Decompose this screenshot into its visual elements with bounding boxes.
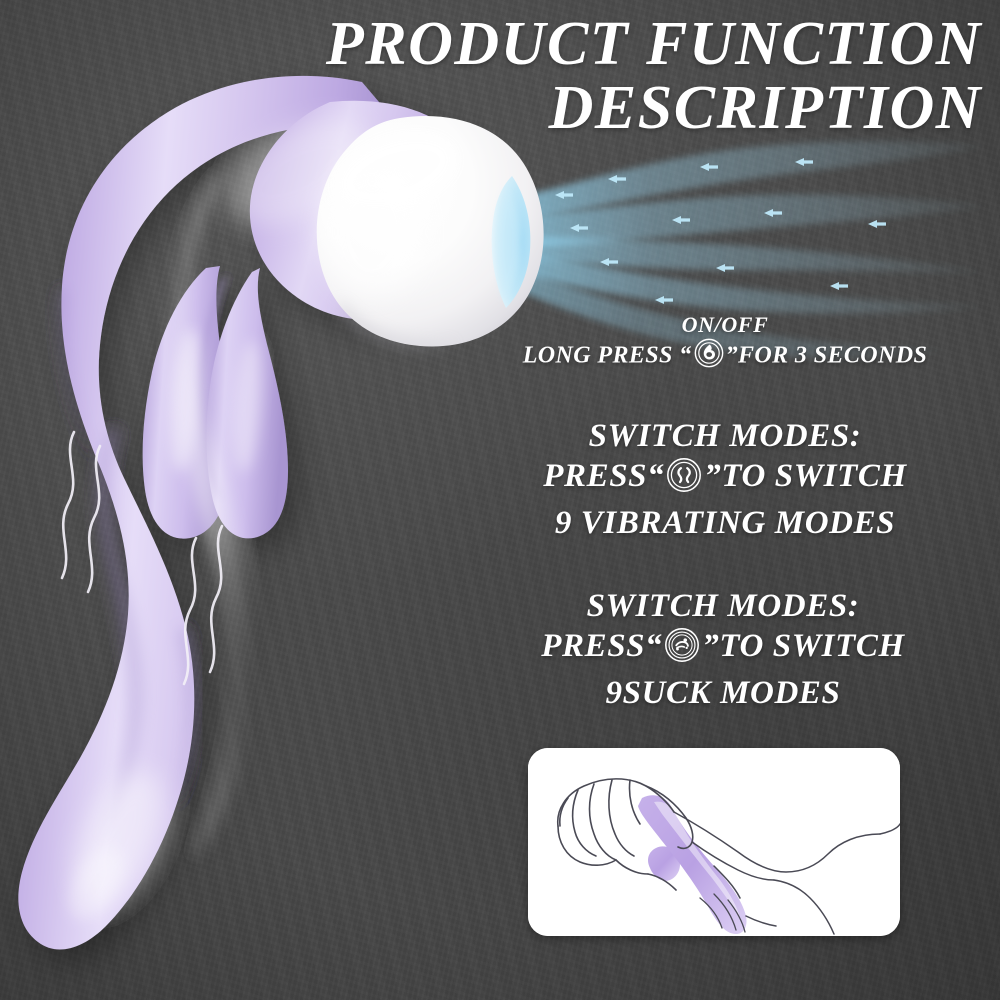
title-line-2: DESCRIPTION: [0, 76, 982, 140]
instruction-suck-footer: 9SUCK MODES: [483, 673, 963, 713]
instruction-power-text-after: ”FOR 3 SECONDS: [726, 343, 928, 369]
instruction-vibrate: SWITCH MODES: PRESS“ ”TO SWITCH 9 VIBRAT…: [487, 416, 963, 543]
usage-illustration-svg: [528, 748, 900, 936]
instruction-power-text-before: LONG PRESS “: [523, 343, 692, 369]
instruction-power-body: LONG PRESS “ ”FOR 3 SECONDS: [490, 338, 960, 376]
title-line-1: PRODUCT FUNCTION: [0, 12, 982, 76]
page-title: PRODUCT FUNCTION DESCRIPTION: [0, 12, 1000, 140]
instruction-vibrate-footer: 9 VIBRATING MODES: [487, 503, 963, 543]
instruction-suck-text-before: PRESS“: [541, 628, 662, 664]
usage-illustration-card: [528, 748, 900, 936]
vibration-wave-icon: [666, 457, 702, 503]
instruction-suck: SWITCH MODES: PRESS“ ”TO SWITCH 9SUCK MO…: [483, 586, 963, 713]
instruction-suck-text-after: ”TO SWITCH: [702, 628, 905, 664]
power-flame-icon: [694, 338, 724, 376]
instruction-vibrate-body: PRESS“ ”TO SWITCH: [487, 456, 963, 503]
poster-canvas: PRODUCT FUNCTION DESCRIPTION ON/OFF LONG…: [0, 0, 1000, 1000]
instruction-vibrate-text-after: ”TO SWITCH: [704, 458, 907, 494]
instruction-power-heading: ON/OFF: [490, 312, 960, 338]
instruction-vibrate-text-before: PRESS“: [543, 458, 664, 494]
suction-icon: [664, 627, 700, 673]
instruction-vibrate-heading: SWITCH MODES:: [487, 416, 963, 456]
instruction-power: ON/OFF LONG PRESS “ ”FOR 3 SECONDS: [490, 312, 960, 376]
instruction-suck-heading: SWITCH MODES:: [483, 586, 963, 626]
instruction-suck-body: PRESS“ ”TO SWITCH: [483, 626, 963, 673]
